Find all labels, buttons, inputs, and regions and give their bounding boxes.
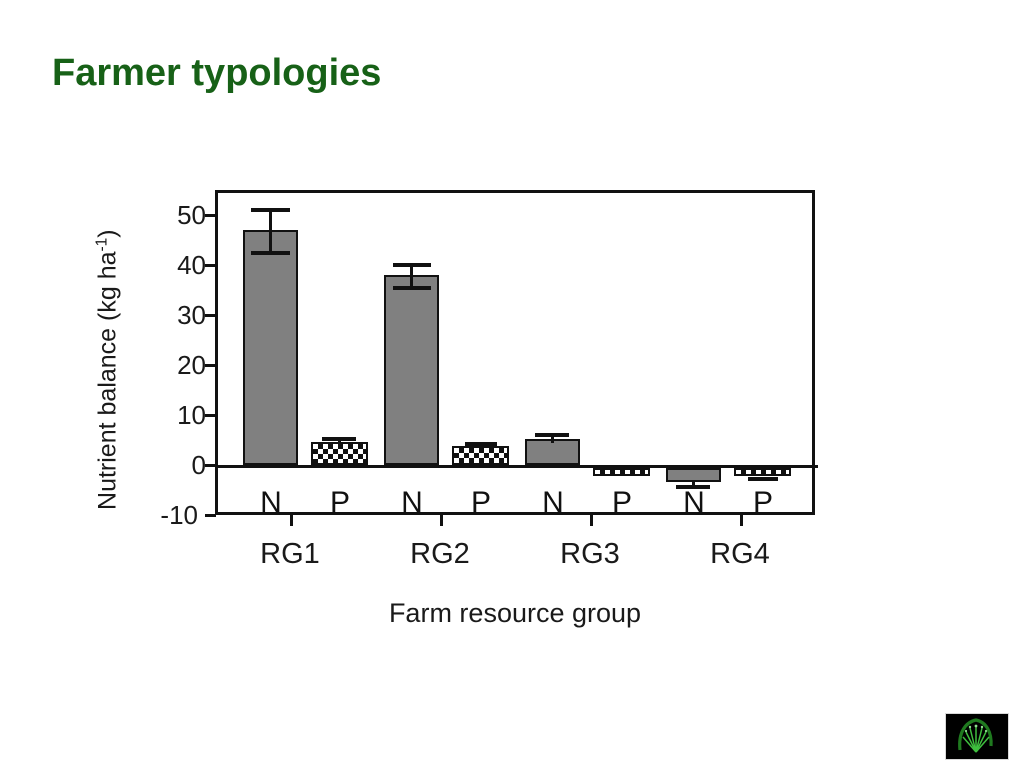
bar-label-rg3-n: N (533, 488, 573, 518)
y-tick-label-0: 0 (148, 452, 206, 478)
bar-rg3-p (593, 468, 650, 476)
errorbar-cap-upper-rg2-p (465, 442, 497, 446)
errorbar-cap-upper-rg1-p (322, 437, 356, 441)
errorbar-cap-upper-rg2-n (393, 263, 431, 267)
y-tick-label-40: 40 (148, 252, 206, 278)
errorbar-cap-upper-rg1-n (251, 208, 290, 212)
x-axis-title: Farm resource group (215, 598, 815, 629)
errorbar-cap-upper-rg3-n (535, 433, 569, 437)
errorbar-cap-lower-rg1-n (251, 251, 290, 255)
plant-sheaf-icon (946, 714, 1006, 757)
bar-label-rg3-p: P (602, 488, 642, 518)
x-tick-mark-rg4 (740, 515, 743, 526)
x-tick-mark-rg3 (590, 515, 593, 526)
organization-logo (945, 713, 1009, 760)
bar-rg2-n (384, 275, 439, 465)
bar-label-rg4-p: P (743, 488, 783, 518)
bar-rg2-p (452, 446, 509, 465)
x-group-label-rg4: RG4 (670, 540, 810, 569)
bar-label-rg4-n: N (674, 488, 714, 518)
y-tick-label-50: 50 (148, 202, 206, 228)
zero-baseline (218, 465, 818, 468)
x-tick-mark-rg2 (440, 515, 443, 526)
errorbar-stem-rg1-n (269, 208, 272, 253)
x-group-label-rg1: RG1 (220, 540, 360, 569)
bar-label-rg2-n: N (392, 488, 432, 518)
bar-rg4-p (734, 468, 791, 476)
y-axis-title: Nutrient balance (kg ha-1) (93, 205, 122, 535)
y-tick-label-20: 20 (148, 352, 206, 378)
errorbar-cap-lower-rg2-n (393, 286, 431, 290)
x-group-label-rg2: RG2 (370, 540, 510, 569)
y-axis-title-exponent: -1 (93, 238, 110, 252)
y-tick-label-30: 30 (148, 302, 206, 328)
bar-label-rg1-p: P (320, 488, 360, 518)
nutrient-balance-bar-chart: Nutrient balance (kg ha-1) 50 40 30 20 1… (0, 0, 1024, 768)
y-axis-title-main: Nutrient balance (kg ha (94, 251, 122, 509)
x-tick-mark-rg1 (290, 515, 293, 526)
y-axis-title-tail: ) (94, 229, 122, 237)
y-tick-label-neg10: -10 (140, 502, 198, 528)
bar-label-rg1-n: N (251, 488, 291, 518)
bar-label-rg2-p: P (461, 488, 501, 518)
bar-rg1-n (243, 230, 298, 465)
y-tick-label-10: 10 (148, 402, 206, 428)
x-group-label-rg3: RG3 (520, 540, 660, 569)
errorbar-cap-lower-rg4-p (748, 477, 778, 481)
plot-area: N P N P N P N P (215, 190, 815, 515)
